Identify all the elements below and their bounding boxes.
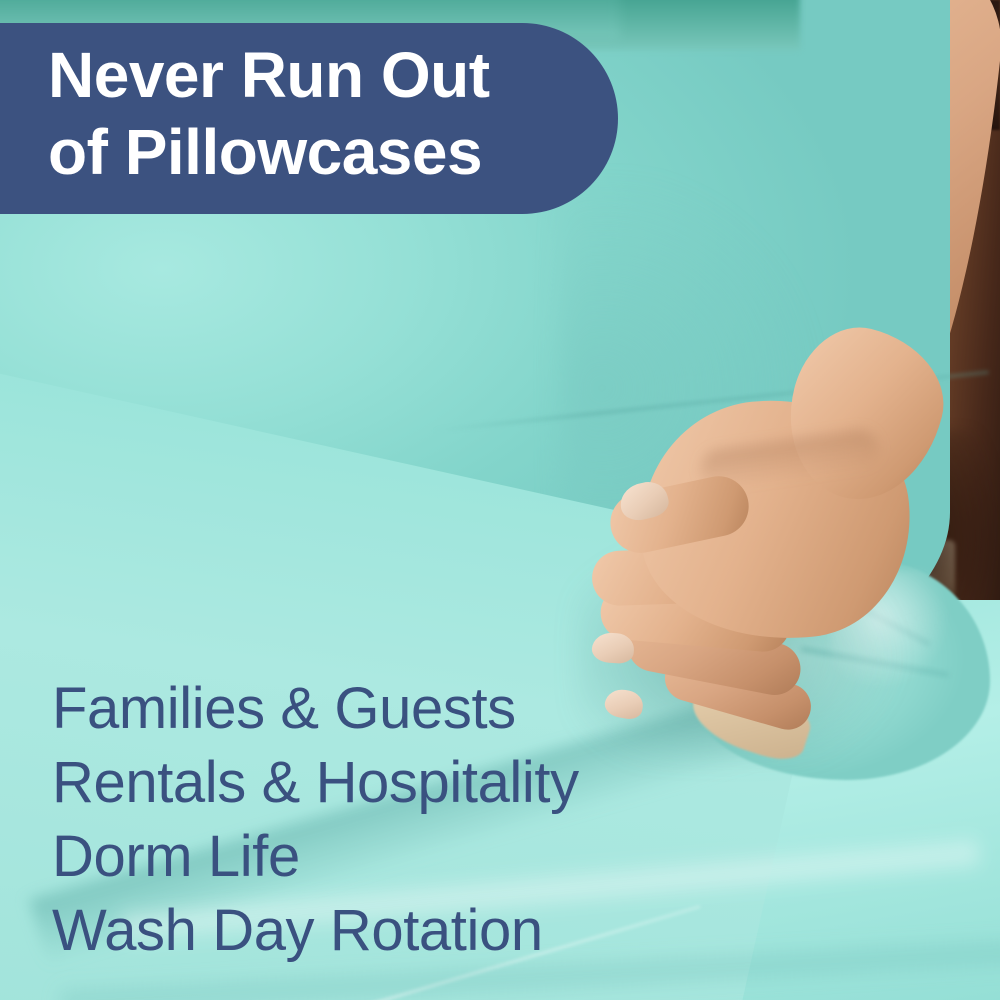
- benefit-item-wash-day: Wash Day Rotation: [52, 894, 752, 968]
- headline-line-2: of Pillowcases: [48, 114, 618, 191]
- benefit-item-rentals: Rentals & Hospitality: [52, 746, 752, 820]
- headline-line-1: Never Run Out: [48, 37, 618, 114]
- benefit-list: Families & Guests Rentals & Hospitality …: [52, 672, 752, 968]
- headline-banner: Never Run Out of Pillowcases: [0, 23, 618, 214]
- benefit-item-families: Families & Guests: [52, 672, 752, 746]
- benefit-item-dorm: Dorm Life: [52, 820, 752, 894]
- product-image: Never Run Out of Pillowcases Families & …: [0, 0, 1000, 1000]
